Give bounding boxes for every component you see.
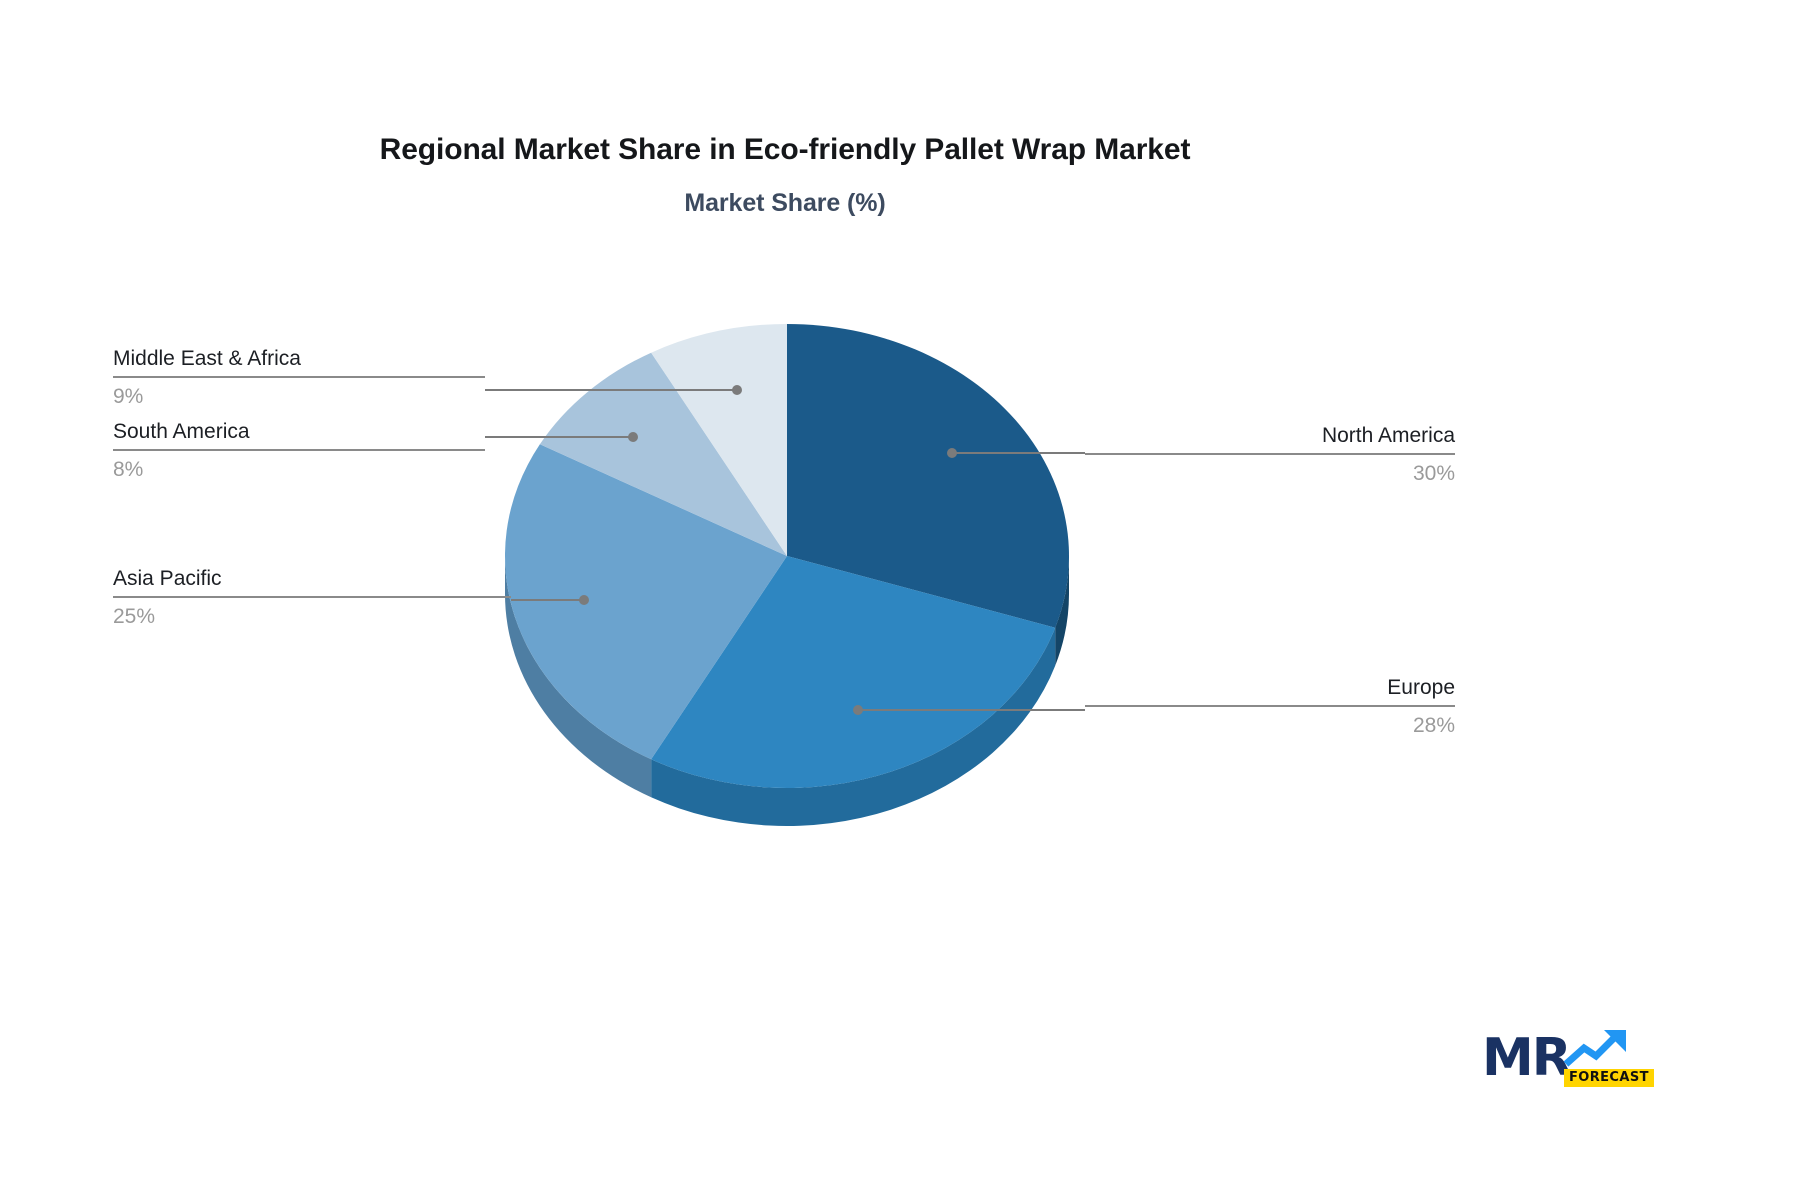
callout-label-north-america: North America <box>1085 425 1455 453</box>
callout-south-america[interactable]: South America 8% <box>113 421 485 480</box>
chart-subtitle: Market Share (%) <box>0 190 1570 218</box>
mr-forecast-logo: MR FORECAST <box>1482 1022 1630 1094</box>
logo-tagline: FORECAST <box>1564 1069 1654 1087</box>
callout-value-south-america: 8% <box>113 451 485 480</box>
callout-middle-east-africa[interactable]: Middle East & Africa 9% <box>113 348 485 407</box>
chart-title: Regional Market Share in Eco-friendly Pa… <box>0 133 1570 166</box>
chart-canvas: Regional Market Share in Eco-friendly Pa… <box>0 0 1800 1196</box>
callout-europe[interactable]: Europe 28% <box>1085 677 1455 736</box>
callout-label-europe: Europe <box>1085 677 1455 705</box>
pie-chart <box>500 318 1080 838</box>
callout-value-europe: 28% <box>1085 707 1455 736</box>
callout-value-middle-east-africa: 9% <box>113 378 485 407</box>
callout-north-america[interactable]: North America 30% <box>1085 425 1455 484</box>
logo-wordmark: MR <box>1482 1032 1570 1084</box>
callout-value-asia-pacific: 25% <box>113 598 511 627</box>
callout-label-middle-east-africa: Middle East & Africa <box>113 348 485 376</box>
callout-label-south-america: South America <box>113 421 485 449</box>
callout-label-asia-pacific: Asia Pacific <box>113 568 511 596</box>
callout-asia-pacific[interactable]: Asia Pacific 25% <box>113 568 511 627</box>
pie-slices <box>505 324 1069 788</box>
callout-value-north-america: 30% <box>1085 455 1455 484</box>
growth-arrow-icon <box>1564 1028 1630 1068</box>
